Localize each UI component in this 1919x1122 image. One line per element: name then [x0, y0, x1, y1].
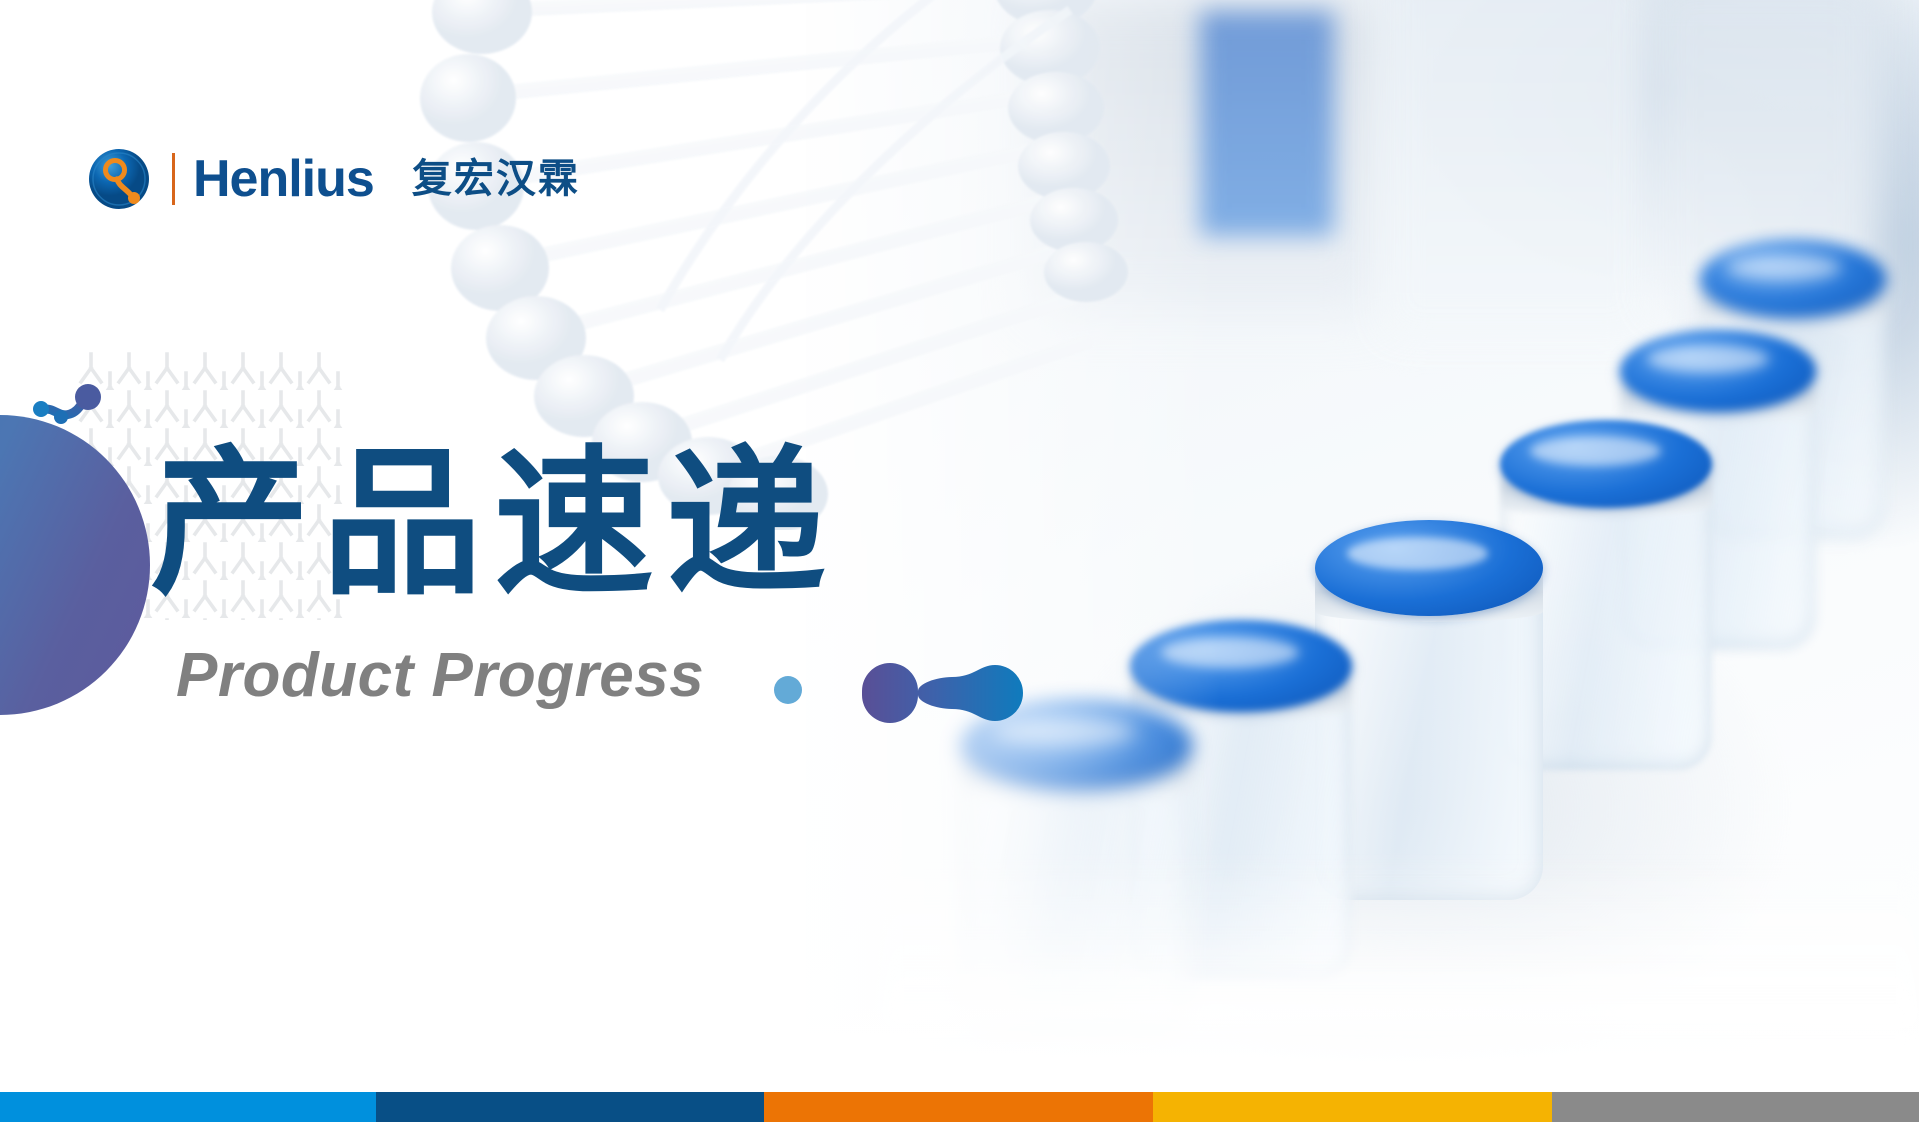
molecule-icon: [28, 384, 108, 446]
metaball-molecule-decor: [854, 648, 1034, 734]
bottom-color-bar: [0, 1092, 1919, 1122]
presentation-slide: Henlius 复宏汉霖 产品速递 Product Progress: [0, 0, 1919, 1122]
segment-gray: [1552, 1092, 1919, 1122]
page-title: 产品速递: [150, 438, 838, 611]
accent-dot: [774, 676, 802, 704]
segment-orange: [764, 1092, 1154, 1122]
segment-yellow: [1153, 1092, 1552, 1122]
lab-bottle-blur: [1382, 0, 1651, 337]
logo-divider: [172, 153, 175, 205]
logo-wordmark: Henlius: [193, 153, 374, 205]
segment-dark-blue: [376, 1092, 764, 1122]
photo-bottom-fade: [0, 942, 1919, 1092]
segment-light-blue: [0, 1092, 376, 1122]
logo-chinese-name: 复宏汉霖: [412, 159, 580, 199]
henlius-molecule-logo-icon: [88, 148, 150, 210]
henlius-logo[interactable]: Henlius 复宏汉霖: [88, 148, 580, 210]
page-subtitle: Product Progress: [176, 640, 704, 711]
